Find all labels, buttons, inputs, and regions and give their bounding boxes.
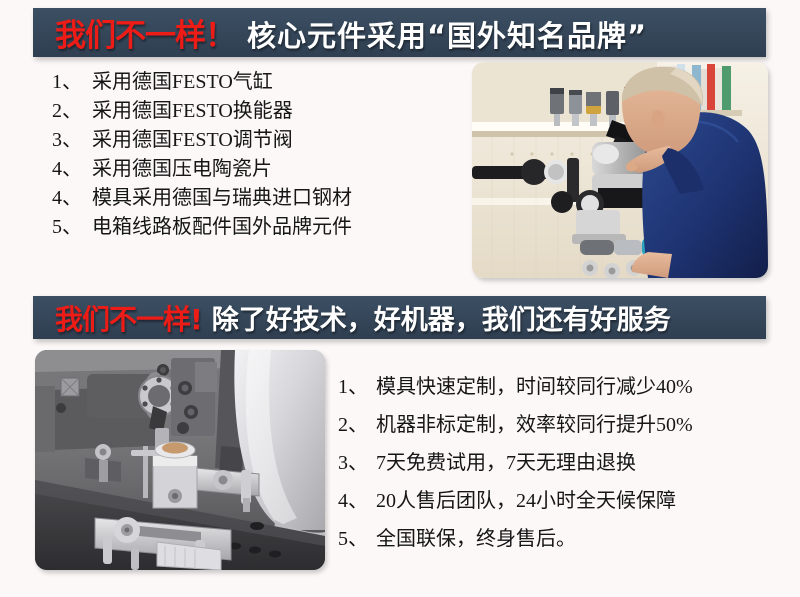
list-item: 1、采用德国FESTO气缸 xyxy=(52,68,452,97)
list-item: 2、机器非标定制，效率较同行提升50% xyxy=(338,406,788,444)
banner-bottom-highlight: 我们不一样! xyxy=(55,298,202,338)
list-item-text: 20人售后团队，24小时全天候保障 xyxy=(376,490,676,512)
list-item: 5、全国联保，终身售后。 xyxy=(338,520,788,558)
list-item-index: 3、 xyxy=(338,444,376,482)
list-item: 3、7天免费试用，7天无理由退换 xyxy=(338,444,788,482)
list-item: 2、采用德国FESTO换能器 xyxy=(52,97,452,126)
photo-microscope-illustration xyxy=(472,62,768,278)
list-item-index: 3、 xyxy=(52,126,92,155)
components-list: 1、采用德国FESTO气缸 2、采用德国FESTO换能器 3、采用德国FESTO… xyxy=(52,68,452,242)
list-item: 5、电箱线路板配件国外品牌元件 xyxy=(52,213,452,242)
list-item-index: 1、 xyxy=(338,368,376,406)
list-item-text: 采用德国FESTO换能器 xyxy=(92,100,293,122)
photo-machine-illustration xyxy=(35,350,325,570)
photo-machine-fixture xyxy=(35,350,325,570)
list-item-text: 7天免费试用，7天无理由退换 xyxy=(376,452,636,474)
list-item-index: 4、 xyxy=(338,482,376,520)
promo-page: 我们不一样！ 核心元件采用“国外知名品牌” 1、采用德国FESTO气缸 2、采用… xyxy=(0,0,800,597)
list-item-index: 1、 xyxy=(52,68,92,97)
banner-bottom-text: 除了好技术，好机器，我们还有好服务 xyxy=(212,298,671,337)
banner-bottom: 我们不一样! 除了好技术，好机器，我们还有好服务 xyxy=(33,296,766,339)
list-item-text: 采用德国FESTO调节阀 xyxy=(92,129,293,151)
banner-top-content: 我们不一样！ 核心元件采用“国外知名品牌” xyxy=(33,10,647,55)
list-item-text: 模具采用德国与瑞典进口钢材 xyxy=(92,187,352,209)
list-item-index: 2、 xyxy=(338,406,376,444)
banner-top: 我们不一样！ 核心元件采用“国外知名品牌” xyxy=(33,8,766,57)
list-item-index: 4、 xyxy=(52,155,92,184)
list-item-text: 电箱线路板配件国外品牌元件 xyxy=(92,216,352,238)
list-item-text: 模具快速定制，时间较同行减少40% xyxy=(376,376,693,398)
list-item: 3、采用德国FESTO调节阀 xyxy=(52,126,452,155)
list-item-text: 采用德国FESTO气缸 xyxy=(92,71,273,93)
banner-top-highlight: 我们不一样！ xyxy=(55,10,235,55)
list-item-index: 2、 xyxy=(52,97,92,126)
list-item: 1、模具快速定制，时间较同行减少40% xyxy=(338,368,788,406)
services-list: 1、模具快速定制，时间较同行减少40% 2、机器非标定制，效率较同行提升50% … xyxy=(338,368,788,558)
list-item-text: 全国联保，终身售后。 xyxy=(376,528,576,550)
banner-top-text: 核心元件采用“国外知名品牌” xyxy=(247,13,647,55)
list-item: 4、模具采用德国与瑞典进口钢材 xyxy=(52,184,452,213)
list-item-index: 5、 xyxy=(52,213,92,242)
list-item: 4、采用德国压电陶瓷片 xyxy=(52,155,452,184)
list-item-index: 4、 xyxy=(52,184,92,213)
banner-bottom-content: 我们不一样! 除了好技术，好机器，我们还有好服务 xyxy=(33,298,671,338)
list-item-text: 机器非标定制，效率较同行提升50% xyxy=(376,414,693,436)
photo-microscope-inspection xyxy=(472,62,768,278)
list-item: 4、20人售后团队，24小时全天候保障 xyxy=(338,482,788,520)
list-item-index: 5、 xyxy=(338,520,376,558)
list-item-text: 采用德国压电陶瓷片 xyxy=(92,158,272,180)
